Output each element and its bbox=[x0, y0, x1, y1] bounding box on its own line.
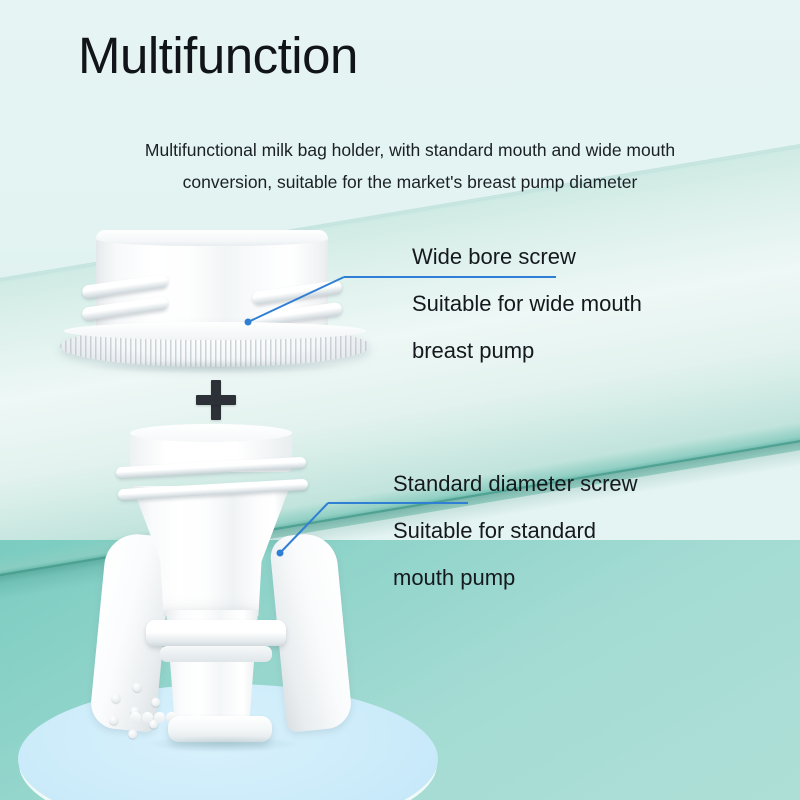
leader-line-standard-diameter bbox=[0, 0, 800, 800]
callout-standard-diameter: Standard diameter screw Suitable for sta… bbox=[393, 460, 638, 601]
callout-wide-bore-line-2: breast pump bbox=[412, 327, 642, 374]
leader-endpoint-dot bbox=[277, 550, 284, 557]
callout-standard-heading: Standard diameter screw bbox=[393, 460, 638, 507]
callout-wide-bore-line-1: Suitable for wide mouth bbox=[412, 280, 642, 327]
callout-standard-line-2: mouth pump bbox=[393, 554, 638, 601]
callout-wide-bore-heading: Wide bore screw bbox=[412, 233, 642, 280]
callout-standard-line-1: Suitable for standard bbox=[393, 507, 638, 554]
product-infographic-poster: Multifunction Multifunctional milk bag h… bbox=[0, 0, 800, 800]
callout-wide-bore: Wide bore screw Suitable for wide mouth … bbox=[412, 233, 642, 374]
